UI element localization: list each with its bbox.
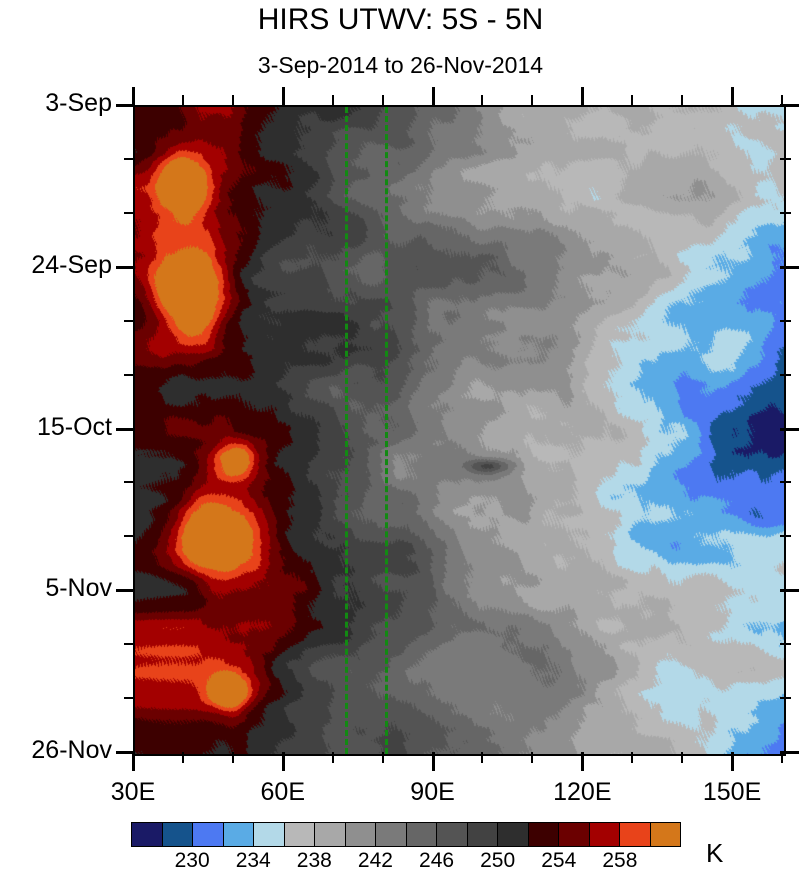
x-tick-minor xyxy=(781,752,783,763)
x-axis-label: 90E xyxy=(410,778,454,807)
chart-subtitle: 3-Sep-2014 to 26-Nov-2014 xyxy=(0,52,801,79)
colorbar-cell-0 xyxy=(132,823,163,846)
x-tick-major-top xyxy=(581,87,584,106)
colorbar-cell-12 xyxy=(498,823,529,846)
x-tick-minor-top xyxy=(232,95,234,106)
hovmoller-plot xyxy=(133,105,786,756)
x-tick-minor-top xyxy=(182,95,184,106)
y-tick-minor-right xyxy=(780,697,791,699)
y-tick-minor xyxy=(124,374,135,376)
colorbar-tick-label: 234 xyxy=(236,849,271,873)
colorbar xyxy=(131,822,681,847)
y-tick-minor xyxy=(124,643,135,645)
reference-line-1 xyxy=(385,107,388,754)
x-tick-major-top xyxy=(132,87,135,106)
y-tick-minor-right xyxy=(780,212,791,214)
x-tick-major-top xyxy=(432,87,435,106)
colorbar-tick-label: 230 xyxy=(175,849,210,873)
x-tick-minor xyxy=(332,752,334,763)
colorbar-swatches xyxy=(131,822,681,847)
colorbar-cell-17 xyxy=(651,823,681,846)
x-tick-major-top xyxy=(731,87,734,106)
colorbar-tick-label: 246 xyxy=(419,849,454,873)
colorbar-cell-16 xyxy=(620,823,651,846)
colorbar-tick-label: 238 xyxy=(297,849,332,873)
y-axis-label: 5-Nov xyxy=(45,574,112,603)
colorbar-unit-label: K xyxy=(706,838,723,869)
y-tick-minor-right xyxy=(780,320,791,322)
y-tick-major-right xyxy=(780,428,799,431)
colorbar-cell-9 xyxy=(407,823,438,846)
x-tick-minor-top xyxy=(481,95,483,106)
colorbar-cell-4 xyxy=(254,823,285,846)
x-tick-major xyxy=(282,752,285,771)
x-tick-minor xyxy=(382,752,384,763)
colorbar-cell-7 xyxy=(346,823,377,846)
y-tick-minor xyxy=(124,158,135,160)
x-tick-major-top xyxy=(282,87,285,106)
colorbar-cell-5 xyxy=(285,823,316,846)
colorbar-tick-label: 250 xyxy=(480,849,515,873)
x-tick-minor xyxy=(481,752,483,763)
x-tick-minor-top xyxy=(531,95,533,106)
y-tick-minor xyxy=(124,697,135,699)
y-tick-major xyxy=(116,266,135,269)
x-axis-label: 60E xyxy=(261,778,305,807)
y-axis-label: 15-Oct xyxy=(37,413,112,442)
y-tick-minor-right xyxy=(780,374,791,376)
colorbar-cell-3 xyxy=(224,823,255,846)
x-tick-minor xyxy=(631,752,633,763)
colorbar-cell-14 xyxy=(559,823,590,846)
colorbar-cell-10 xyxy=(437,823,468,846)
x-tick-minor xyxy=(182,752,184,763)
x-axis-label: 30E xyxy=(111,778,155,807)
y-tick-major xyxy=(116,428,135,431)
y-tick-minor xyxy=(124,481,135,483)
x-tick-major xyxy=(581,752,584,771)
x-tick-minor xyxy=(531,752,533,763)
colorbar-cell-6 xyxy=(315,823,346,846)
x-tick-minor xyxy=(232,752,234,763)
y-tick-major xyxy=(116,589,135,592)
y-tick-minor xyxy=(124,535,135,537)
colorbar-tick-label: 258 xyxy=(602,849,637,873)
x-axis-label: 120E xyxy=(553,778,611,807)
colorbar-cell-2 xyxy=(193,823,224,846)
y-tick-minor-right xyxy=(780,481,791,483)
y-axis-label: 3-Sep xyxy=(45,89,112,118)
x-axis-label: 150E xyxy=(703,778,761,807)
x-tick-minor-top xyxy=(631,95,633,106)
y-tick-minor-right xyxy=(780,643,791,645)
x-tick-major xyxy=(432,752,435,771)
colorbar-tick-label: 242 xyxy=(358,849,393,873)
reference-line-0 xyxy=(345,107,348,754)
y-tick-major-right xyxy=(780,589,799,592)
x-tick-major xyxy=(132,752,135,771)
x-tick-minor-top xyxy=(781,95,783,106)
x-tick-minor xyxy=(681,752,683,763)
colorbar-cell-11 xyxy=(468,823,499,846)
colorbar-cell-13 xyxy=(529,823,560,846)
y-tick-major-right xyxy=(780,266,799,269)
x-tick-minor-top xyxy=(382,95,384,106)
y-axis-label: 24-Sep xyxy=(31,251,112,280)
y-tick-minor xyxy=(124,212,135,214)
y-axis-label: 26-Nov xyxy=(31,736,112,765)
colorbar-cell-15 xyxy=(590,823,621,846)
y-tick-minor xyxy=(124,320,135,322)
x-tick-minor-top xyxy=(332,95,334,106)
hovmoller-field xyxy=(135,107,784,754)
y-tick-minor-right xyxy=(780,535,791,537)
page-title: HIRS UTWV: 5S - 5N xyxy=(0,3,801,37)
colorbar-cell-1 xyxy=(163,823,194,846)
colorbar-cell-8 xyxy=(376,823,407,846)
x-tick-minor-top xyxy=(681,95,683,106)
colorbar-tick-label: 254 xyxy=(541,849,576,873)
x-tick-major xyxy=(731,752,734,771)
y-tick-minor-right xyxy=(780,158,791,160)
